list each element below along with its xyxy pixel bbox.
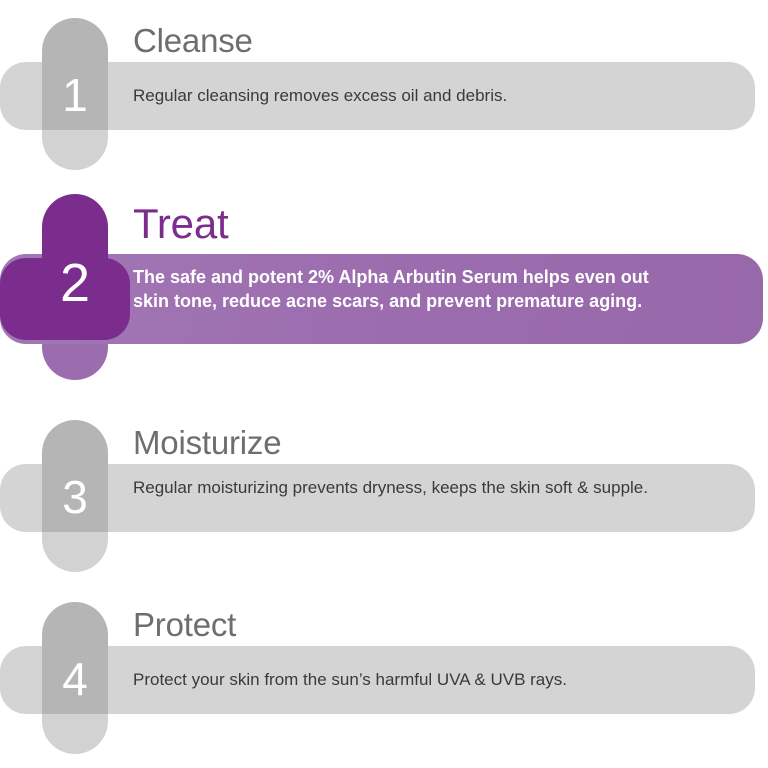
step-1: 1 Cleanse Regular cleansing removes exce… bbox=[0, 0, 768, 180]
step-2-number: 2 bbox=[42, 256, 108, 310]
step-4: 4 Protect Protect your skin from the sun… bbox=[0, 586, 768, 766]
step-1-heading: Cleanse bbox=[133, 22, 253, 60]
step-3-heading: Moisturize bbox=[133, 424, 281, 462]
step-1-number: 1 bbox=[42, 72, 108, 118]
step-3: 3 Moisturize Regular moisturizing preven… bbox=[0, 404, 768, 584]
step-4-number: 4 bbox=[42, 656, 108, 702]
step-2-heading: Treat bbox=[133, 200, 228, 248]
step-2-description: The safe and potent 2% Alpha Arbutin Ser… bbox=[133, 266, 653, 314]
step-3-description: Regular moisturizing prevents dryness, k… bbox=[133, 477, 718, 500]
skincare-routine-infographic: 1 Cleanse Regular cleansing removes exce… bbox=[0, 0, 768, 768]
step-4-description: Protect your skin from the sun’s harmful… bbox=[133, 669, 733, 692]
step-4-heading: Protect bbox=[133, 606, 236, 644]
step-2: 2 Treat The safe and potent 2% Alpha Arb… bbox=[0, 186, 768, 392]
step-1-description: Regular cleansing removes excess oil and… bbox=[133, 85, 733, 108]
step-3-number: 3 bbox=[42, 474, 108, 520]
